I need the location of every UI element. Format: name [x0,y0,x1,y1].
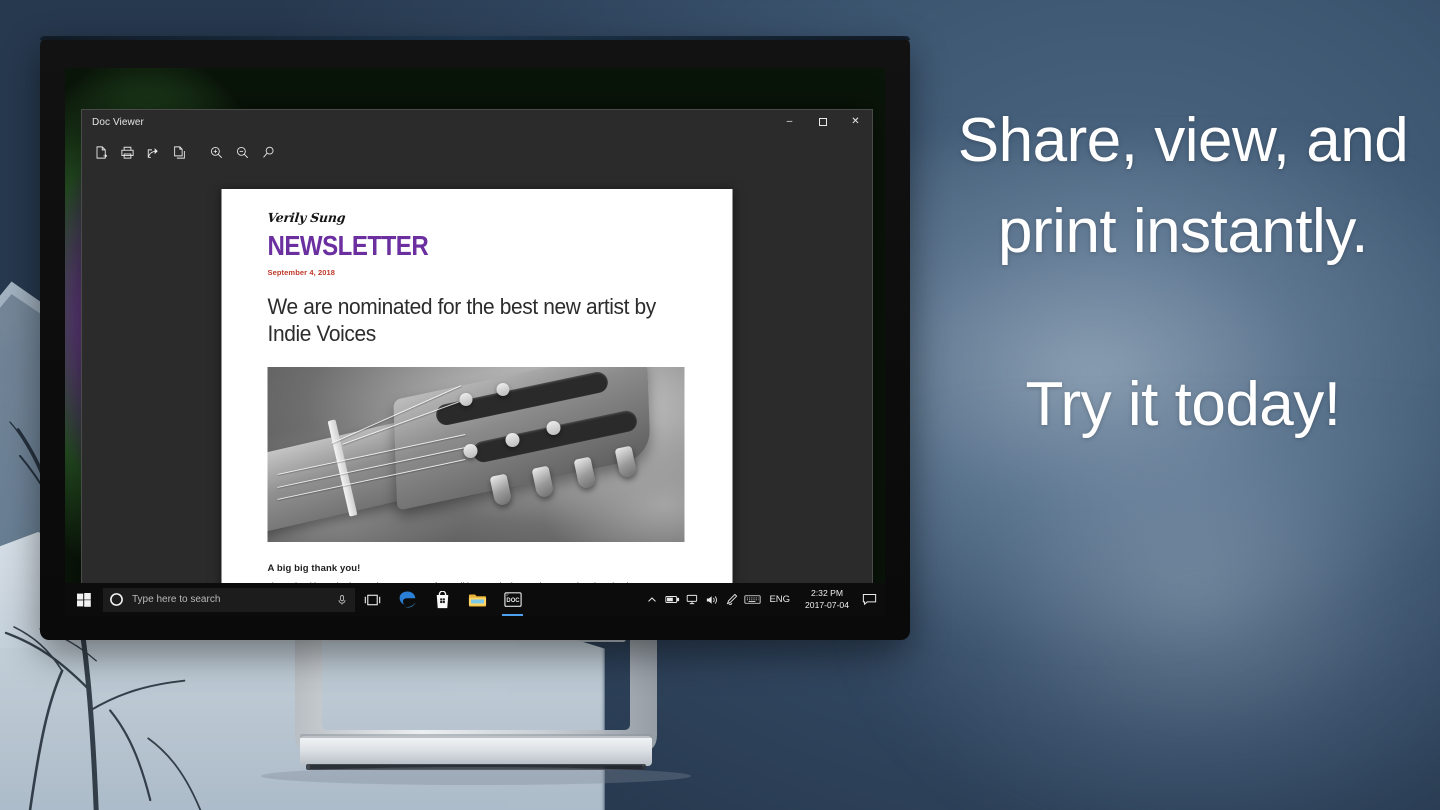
open-file-icon[interactable] [88,140,114,166]
document-page: Verily Sung NEWSLETTER September 4, 2018… [222,189,733,616]
newsletter-brand: Verily Sung [267,210,347,225]
zoom-in-icon[interactable] [203,140,229,166]
maximize-button[interactable] [806,110,839,134]
surface-studio-device: Doc Viewer – ✕ [40,36,910,640]
volume-icon[interactable] [702,583,722,616]
input-language[interactable]: ENG [762,594,797,605]
newsletter-masthead: NEWSLETTER [268,232,628,260]
promo-headline: Share, view, and print instantly. [948,96,1418,277]
windows-taskbar: Type here to search [65,583,885,616]
minimize-button[interactable]: – [773,110,806,134]
clock-time: 2:32 PM [805,588,849,600]
edge-icon[interactable] [390,583,425,616]
background-haze-low [864,421,1440,810]
device-top-edge [40,36,910,40]
guitar-peg-3 [463,444,477,458]
guitar-peg-1 [459,393,472,406]
window-titlebar[interactable]: Doc Viewer – ✕ [82,110,872,137]
guitar-photo [268,367,685,542]
action-center-icon[interactable] [857,583,881,616]
svg-text:DOC: DOC [506,598,520,604]
window-controls: – ✕ [773,110,872,134]
document-scroll-area[interactable]: Verily Sung NEWSLETTER September 4, 2018… [82,168,872,616]
newsletter-date: September 4, 2018 [268,268,687,277]
microphone-icon [336,594,348,606]
battery-icon[interactable] [662,583,682,616]
guitar-peg-2 [497,383,510,396]
search-input[interactable]: Type here to search [103,588,355,612]
show-hidden-icons-chevron[interactable] [642,583,662,616]
device-screen: Doc Viewer – ✕ [65,68,885,616]
pen-icon[interactable] [722,583,742,616]
copy-icon[interactable] [166,140,192,166]
marketing-copy: Share, view, and print instantly. Try it… [948,96,1418,440]
search-placeholder: Type here to search [132,594,328,605]
task-view-icon[interactable] [355,583,390,616]
share-icon[interactable] [140,140,166,166]
start-button[interactable] [65,583,103,616]
cortana-circle-icon [109,592,124,607]
network-icon[interactable] [682,583,702,616]
taskbar-clock[interactable]: 2:32 PM 2017-07-04 [797,588,857,611]
find-icon[interactable] [255,140,281,166]
file-explorer-icon[interactable] [460,583,495,616]
system-tray: ENG 2:32 PM 2017-07-04 [642,583,885,616]
promo-subline: Try it today! [948,369,1418,440]
article-headline: We are nominated for the best new artist… [268,293,658,348]
guitar-peg-4 [505,433,519,447]
window-title: Doc Viewer [82,110,144,128]
clock-date: 2017-07-04 [805,600,849,612]
close-button[interactable]: ✕ [839,110,872,134]
doc-viewer-icon[interactable]: DOC [495,583,530,616]
document-toolbar [82,137,872,168]
doc-viewer-window: Doc Viewer – ✕ [81,109,873,616]
keyboard-icon[interactable] [742,583,762,616]
print-icon[interactable] [114,140,140,166]
zoom-out-icon[interactable] [229,140,255,166]
article-subhead: A big big thank you! [268,563,687,574]
microsoft-store-icon[interactable] [425,583,460,616]
